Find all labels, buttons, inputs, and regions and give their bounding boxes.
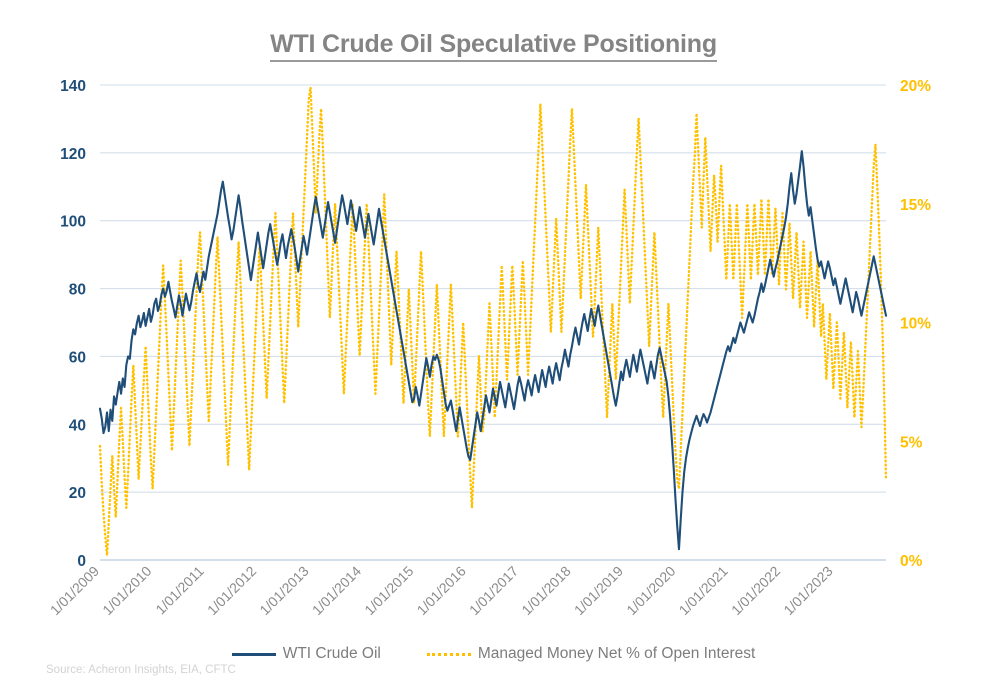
series-managed-money-line [100, 87, 886, 555]
x-axis-tick-label: 1/01/2016 [414, 563, 470, 619]
gridlines [100, 85, 886, 560]
x-axis-tick-label: 1/01/2017 [466, 563, 522, 619]
x-axis-tick-label: 1/01/2014 [309, 563, 365, 619]
x-axis-tick-label: 1/01/2019 [571, 563, 627, 619]
right-axis-tick-label: 5% [900, 434, 923, 451]
legend-item-managed-money[interactable]: Managed Money Net % of Open Interest [427, 645, 755, 663]
left-axis-tick-label: 80 [69, 282, 86, 299]
source-note: Source: Acheron Insights, EIA, CFTC [46, 664, 236, 676]
chart-container: WTI Crude Oil Speculative Positioning 02… [0, 0, 987, 691]
x-axis-tick-label: 1/01/2011 [152, 563, 207, 618]
legend-label-wti: WTI Crude Oil [283, 645, 381, 663]
x-axis-tick-labels: 1/01/20091/01/20101/01/20111/01/20121/01… [47, 563, 836, 619]
left-axis-tick-label: 0 [77, 553, 86, 570]
series-wti-line [100, 151, 886, 549]
left-axis-tick-label: 60 [69, 349, 86, 366]
x-axis-tick-label: 1/01/2022 [728, 563, 784, 619]
left-axis-tick-label: 140 [60, 78, 86, 95]
x-axis-tick-label: 1/01/2021 [676, 563, 732, 619]
x-axis-tick-label: 1/01/2018 [518, 563, 574, 619]
chart-legend: WTI Crude Oil Managed Money Net % of Ope… [0, 645, 987, 663]
right-axis-tick-label: 15% [900, 197, 931, 214]
x-axis-tick-label: 1/01/2020 [623, 563, 679, 619]
legend-label-managed-money: Managed Money Net % of Open Interest [478, 645, 755, 663]
right-axis-tick-label: 0% [900, 553, 923, 570]
right-axis-tick-labels: 0%5%10%15%20% [900, 78, 931, 570]
right-axis-tick-label: 10% [900, 316, 931, 333]
x-axis-tick-label: 1/01/2009 [47, 563, 103, 619]
data-series [100, 87, 886, 555]
x-axis-tick-label: 1/01/2023 [780, 563, 836, 619]
left-axis-tick-labels: 020406080100120140 [60, 78, 86, 570]
x-axis-tick-label: 1/01/2012 [204, 563, 260, 619]
chart-plot-svg: 020406080100120140 0%5%10%15%20% 1/01/20… [0, 0, 987, 691]
x-axis-tick-label: 1/01/2013 [256, 563, 312, 619]
left-axis-tick-label: 120 [60, 146, 86, 163]
left-axis-tick-label: 20 [69, 485, 86, 502]
left-axis-tick-label: 100 [60, 214, 86, 231]
x-axis-tick-label: 1/01/2010 [99, 563, 155, 619]
legend-item-wti[interactable]: WTI Crude Oil [232, 645, 381, 663]
x-axis-tick-label: 1/01/2015 [361, 563, 417, 619]
right-axis-tick-label: 20% [900, 78, 931, 95]
legend-swatch-wti-icon [232, 653, 276, 656]
legend-swatch-managed-money-icon [427, 653, 471, 656]
left-axis-tick-label: 40 [69, 417, 86, 434]
